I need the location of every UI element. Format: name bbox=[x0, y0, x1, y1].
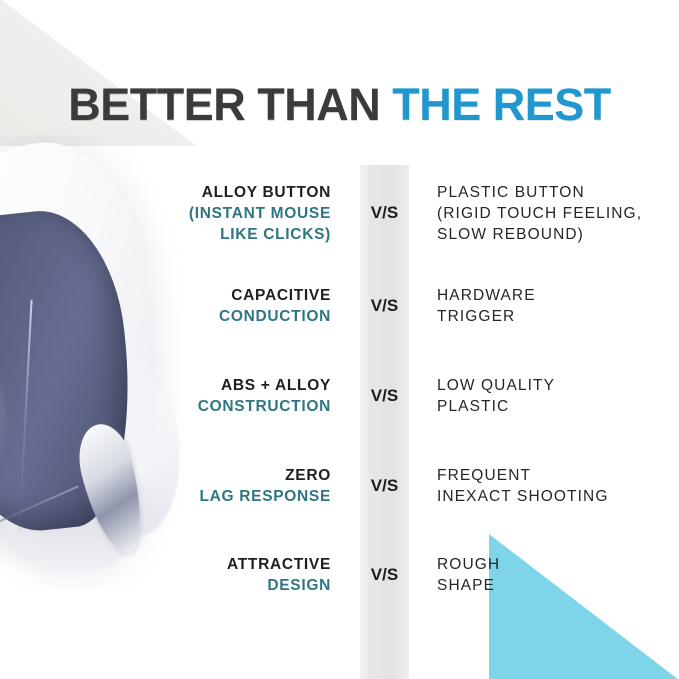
comparison-table: ALLOY BUTTON(INSTANT MOUSELIKE CLICKS)V/… bbox=[0, 165, 679, 619]
comparison-row: CAPACITIVECONDUCTIONV/SHARDWARETRIGGER bbox=[0, 261, 679, 351]
row-right-feature: HARDWARETRIGGER bbox=[409, 285, 679, 327]
row-right-feature: ROUGHSHAPE bbox=[409, 554, 679, 596]
feature-line: LIKE CLICKS) bbox=[0, 224, 331, 245]
feature-line: SLOW REBOUND) bbox=[437, 224, 679, 245]
feature-line: ROUGH bbox=[437, 554, 679, 575]
page-title: BETTER THAN THE REST bbox=[0, 82, 679, 127]
vs-label: V/S bbox=[360, 203, 409, 223]
feature-line: SHAPE bbox=[437, 575, 679, 596]
feature-line: ABS + ALLOY bbox=[0, 375, 331, 396]
feature-line: CONDUCTION bbox=[0, 306, 331, 327]
comparison-row: ATTRACTIVEDESIGNV/SROUGHSHAPE bbox=[0, 531, 679, 619]
row-left-feature: ZEROLAG RESPONSE bbox=[0, 465, 360, 507]
row-right-feature: PLASTIC BUTTON(RIGID TOUCH FEELING,SLOW … bbox=[409, 182, 679, 245]
title-blue-segment: THE REST bbox=[392, 79, 611, 130]
feature-line: LOW QUALITY bbox=[437, 375, 679, 396]
comparison-row: ZEROLAG RESPONSEV/SFREQUENTINEXACT SHOOT… bbox=[0, 441, 679, 531]
feature-line: INEXACT SHOOTING bbox=[437, 486, 679, 507]
title-dark-segment: BETTER THAN bbox=[68, 79, 380, 130]
comparison-row: ALLOY BUTTON(INSTANT MOUSELIKE CLICKS)V/… bbox=[0, 165, 679, 261]
vs-label: V/S bbox=[360, 565, 409, 585]
comparison-poster: BETTER THAN THE REST ALLOY BUTTON(INSTAN… bbox=[0, 0, 679, 679]
feature-line: FREQUENT bbox=[437, 465, 679, 486]
feature-line: HARDWARE bbox=[437, 285, 679, 306]
row-left-feature: ABS + ALLOYCONSTRUCTION bbox=[0, 375, 360, 417]
feature-line: CONSTRUCTION bbox=[0, 396, 331, 417]
row-right-feature: LOW QUALITYPLASTIC bbox=[409, 375, 679, 417]
row-left-feature: ATTRACTIVEDESIGN bbox=[0, 554, 360, 596]
feature-line: (RIGID TOUCH FEELING, bbox=[437, 203, 679, 224]
row-left-feature: ALLOY BUTTON(INSTANT MOUSELIKE CLICKS) bbox=[0, 182, 360, 245]
vs-label: V/S bbox=[360, 296, 409, 316]
comparison-row: ABS + ALLOYCONSTRUCTIONV/SLOW QUALITYPLA… bbox=[0, 351, 679, 441]
feature-line: (INSTANT MOUSE bbox=[0, 203, 331, 224]
feature-line: DESIGN bbox=[0, 575, 331, 596]
feature-line: ATTRACTIVE bbox=[0, 554, 331, 575]
feature-line: LAG RESPONSE bbox=[0, 486, 331, 507]
vs-label: V/S bbox=[360, 476, 409, 496]
feature-line: TRIGGER bbox=[437, 306, 679, 327]
vs-label: V/S bbox=[360, 386, 409, 406]
row-right-feature: FREQUENTINEXACT SHOOTING bbox=[409, 465, 679, 507]
feature-line: PLASTIC BUTTON bbox=[437, 182, 679, 203]
feature-line: CAPACITIVE bbox=[0, 285, 331, 306]
feature-line: ALLOY BUTTON bbox=[0, 182, 331, 203]
feature-line: ZERO bbox=[0, 465, 331, 486]
feature-line: PLASTIC bbox=[437, 396, 679, 417]
row-left-feature: CAPACITIVECONDUCTION bbox=[0, 285, 360, 327]
